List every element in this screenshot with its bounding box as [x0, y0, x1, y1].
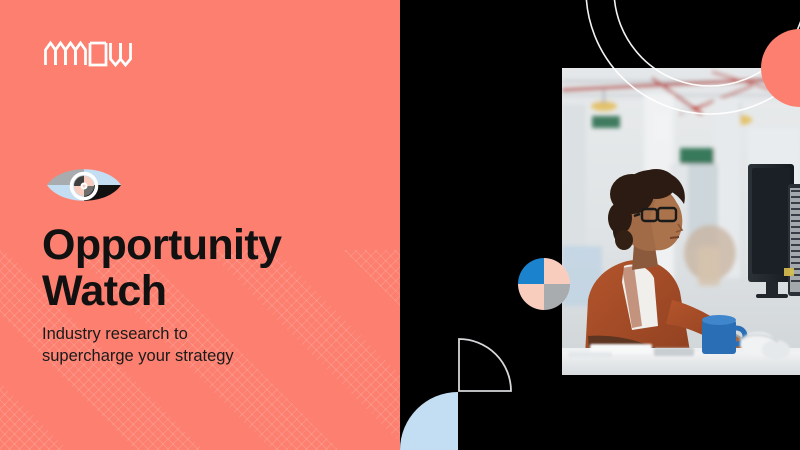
eye-target-icon [46, 158, 122, 212]
quarter-circle-outline [458, 338, 512, 392]
quarter-circle-filled [400, 392, 458, 450]
subtitle-line-2: supercharge your strategy [42, 346, 342, 368]
headline-line-1: Opportunity [42, 221, 281, 269]
right-black-panel: 2026 Outlook [400, 0, 800, 450]
subtitle-line-1: Industry research to [42, 325, 188, 343]
four-quadrant-circle [518, 258, 570, 310]
page-subtitle: Industry research to supercharge your st… [42, 324, 342, 368]
headline-line-2: Watch [42, 268, 362, 314]
office-photo [562, 68, 800, 375]
slide-canvas: Opportunity Watch Industry research to s… [0, 0, 800, 450]
arrow-logo [44, 40, 136, 68]
page-title: Opportunity Watch [42, 222, 362, 314]
left-coral-panel: Opportunity Watch Industry research to s… [0, 0, 400, 450]
